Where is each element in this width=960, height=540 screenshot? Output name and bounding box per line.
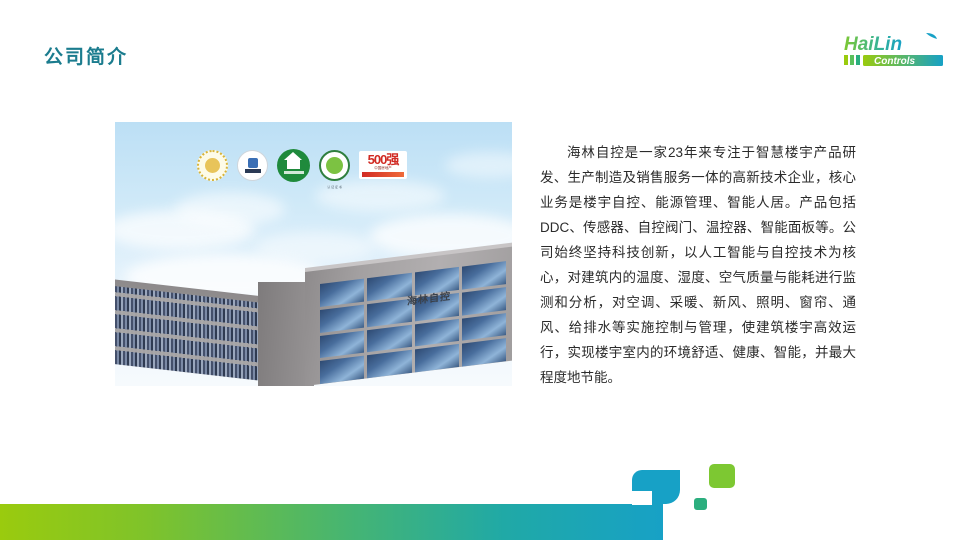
window bbox=[320, 279, 364, 307]
slide-root: 公司简介 HaiLin Controls bbox=[0, 0, 960, 540]
badge-environment: 认 证 证 书 bbox=[319, 150, 350, 181]
badge-green-home bbox=[277, 149, 310, 182]
window bbox=[462, 338, 506, 366]
cloud-decor bbox=[445, 152, 512, 178]
badge-gold-seal bbox=[197, 150, 228, 181]
window bbox=[367, 324, 411, 352]
window bbox=[415, 344, 459, 372]
cloud-decor bbox=[255, 232, 375, 262]
window bbox=[462, 313, 506, 341]
badge-jingruizhuang bbox=[237, 150, 268, 181]
svg-text:Controls: Controls bbox=[874, 56, 916, 67]
footer-square-green-decor bbox=[709, 464, 735, 488]
company-intro-paragraph: 海林自控是一家23年来专注于智慧楼宇产品研发、生产制造及销售服务一体的高新技术企… bbox=[540, 140, 856, 390]
badge-top-500-number: 500强 bbox=[368, 153, 399, 166]
window bbox=[320, 304, 364, 332]
certification-badges: 认 证 证 书 500强 中国房地产 bbox=[197, 148, 437, 182]
cloud-decor bbox=[175, 192, 285, 226]
logo-icon: HaiLin Controls bbox=[830, 30, 950, 74]
window bbox=[320, 330, 364, 358]
window bbox=[367, 273, 411, 301]
window bbox=[462, 261, 506, 289]
building-window-grid bbox=[320, 261, 506, 384]
company-building-photo: 认 证 证 书 500强 中国房地产 bbox=[115, 122, 512, 386]
page-title: 公司简介 bbox=[44, 42, 128, 69]
badge-environment-caption: 认 证 证 书 bbox=[327, 185, 342, 189]
badge-top-500-sub: 中国房地产 bbox=[374, 166, 392, 171]
badge-top-500-strip bbox=[362, 172, 404, 177]
hailin-logo: HaiLin Controls bbox=[830, 30, 950, 74]
svg-text:HaiLin: HaiLin bbox=[844, 34, 902, 55]
window bbox=[415, 318, 459, 346]
footer-notch-decor bbox=[632, 470, 680, 504]
badge-top-500: 500强 中国房地产 bbox=[359, 151, 407, 179]
footer-square-teal-decor bbox=[694, 498, 707, 510]
window bbox=[320, 356, 364, 384]
window bbox=[462, 287, 506, 315]
window bbox=[367, 299, 411, 327]
footer-gradient-bar bbox=[0, 504, 663, 540]
window bbox=[367, 350, 411, 378]
